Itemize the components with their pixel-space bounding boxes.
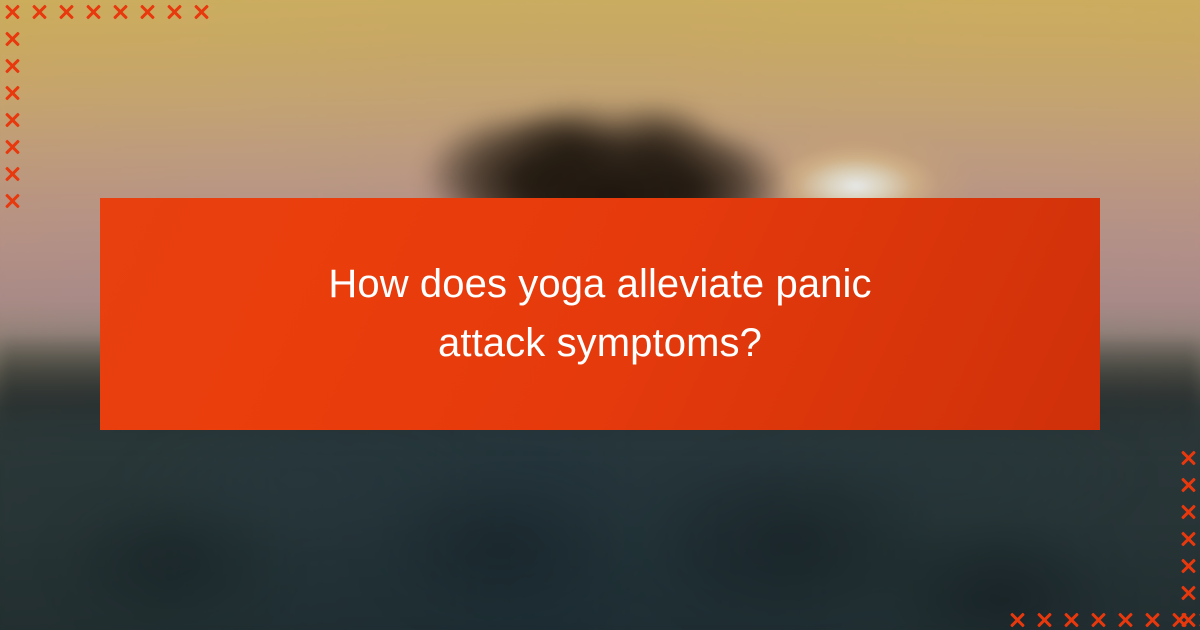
page-title: How does yoga alleviate panic attack sym… [280, 255, 920, 373]
social-share-card: How does yoga alleviate panic attack sym… [0, 0, 1200, 630]
title-banner: How does yoga alleviate panic attack sym… [100, 198, 1100, 430]
